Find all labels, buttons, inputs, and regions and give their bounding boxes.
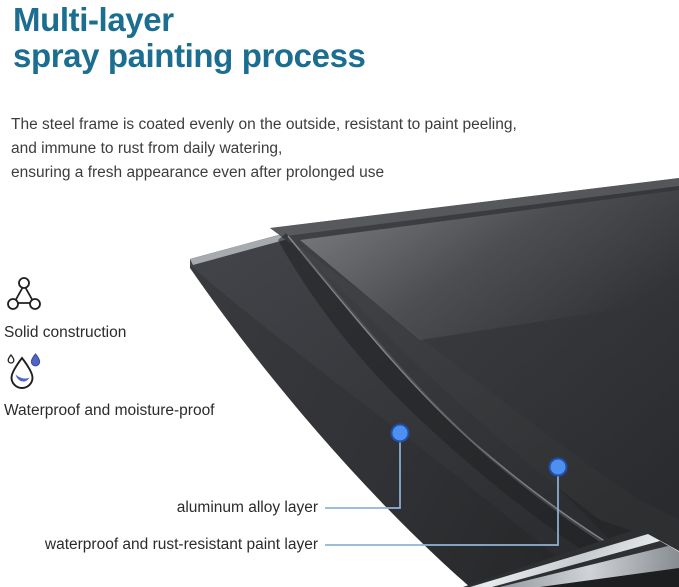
description-line-3: ensuring a fresh appearance even after p… — [11, 161, 517, 185]
description-line-1: The steel frame is coated evenly on the … — [11, 113, 517, 137]
feature-solid-construction-label: Solid construction — [4, 324, 126, 342]
title-line-1: Multi-layer — [13, 2, 365, 38]
page-title: Multi-layer spray painting process — [13, 2, 365, 74]
callout-label-paint: waterproof and rust-resistant paint laye… — [0, 536, 318, 554]
feature-waterproof-label: Waterproof and moisture-proof — [4, 402, 215, 420]
product-feature-page: Multi-layer spray painting process The s… — [0, 0, 679, 587]
page-description: The steel frame is coated evenly on the … — [11, 113, 517, 185]
feature-solid-construction: Solid construction — [4, 274, 126, 342]
feature-waterproof: Waterproof and moisture-proof — [4, 352, 215, 420]
water-droplet-icon — [4, 352, 44, 392]
description-line-2: and immune to rust from daily watering, — [11, 137, 517, 161]
title-line-2: spray painting process — [13, 38, 365, 74]
callout-label-aluminum: aluminum alloy layer — [0, 499, 318, 517]
molecular-structure-icon — [4, 274, 44, 314]
